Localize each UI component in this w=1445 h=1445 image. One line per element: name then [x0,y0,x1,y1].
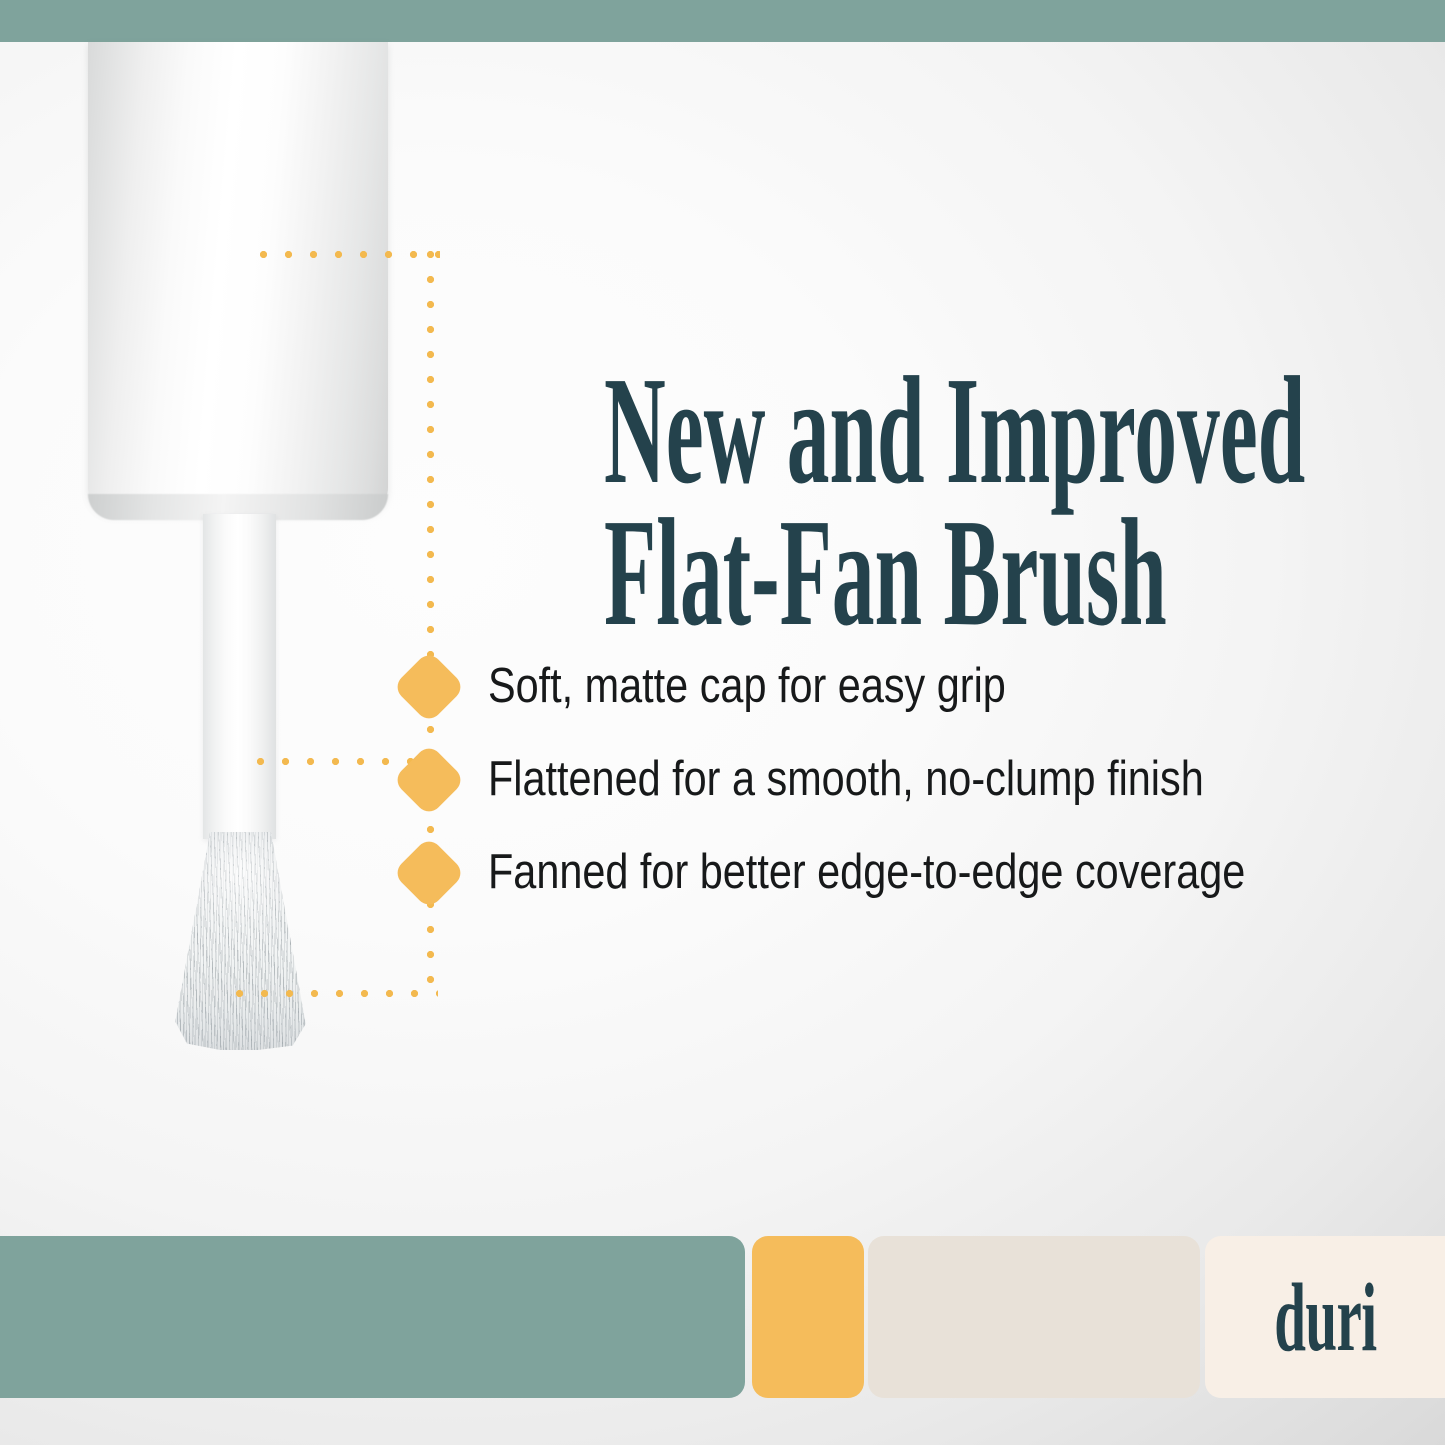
brush-bristles [168,832,313,1050]
diamond-bullet-icon [392,836,466,910]
brand-logo: duri [1274,1274,1376,1360]
bottom-brand-bar: duri [0,1236,1445,1398]
page-title: New and Improved Flat-Fan Brush [604,361,1404,644]
feature-item-fan: Fanned for better edge-to-edge coverage [404,826,1404,919]
diamond-bullet-icon [392,743,466,817]
diamond-bullet-icon [392,650,466,724]
brush-cap [88,42,388,514]
feature-label: Flattened for a smooth, no-clump finish [488,755,1204,804]
dotted-line-cap-callout [258,249,440,260]
dotted-line-bristle-callout [234,988,438,999]
color-block-amber [752,1236,864,1398]
feature-list: Soft, matte cap for easy grip Flattened … [404,640,1404,919]
color-block-beige [868,1236,1200,1398]
feature-item-cap: Soft, matte cap for easy grip [404,640,1404,733]
feature-label: Soft, matte cap for easy grip [488,662,1006,711]
product-feature-poster: New and Improved Flat-Fan Brush Soft, ma… [0,0,1445,1445]
brush-stem [203,514,276,839]
product-photo [0,42,430,1102]
color-block-cream: duri [1205,1236,1445,1398]
feature-label: Fanned for better edge-to-edge coverage [488,848,1245,897]
headline-line-2: Flat-Fan Brush [604,503,1048,645]
headline-line-1: New and Improved [604,361,1048,503]
feature-item-flat: Flattened for a smooth, no-clump finish [404,733,1404,826]
color-block-sage [0,1236,745,1398]
top-brand-bar [0,0,1445,42]
